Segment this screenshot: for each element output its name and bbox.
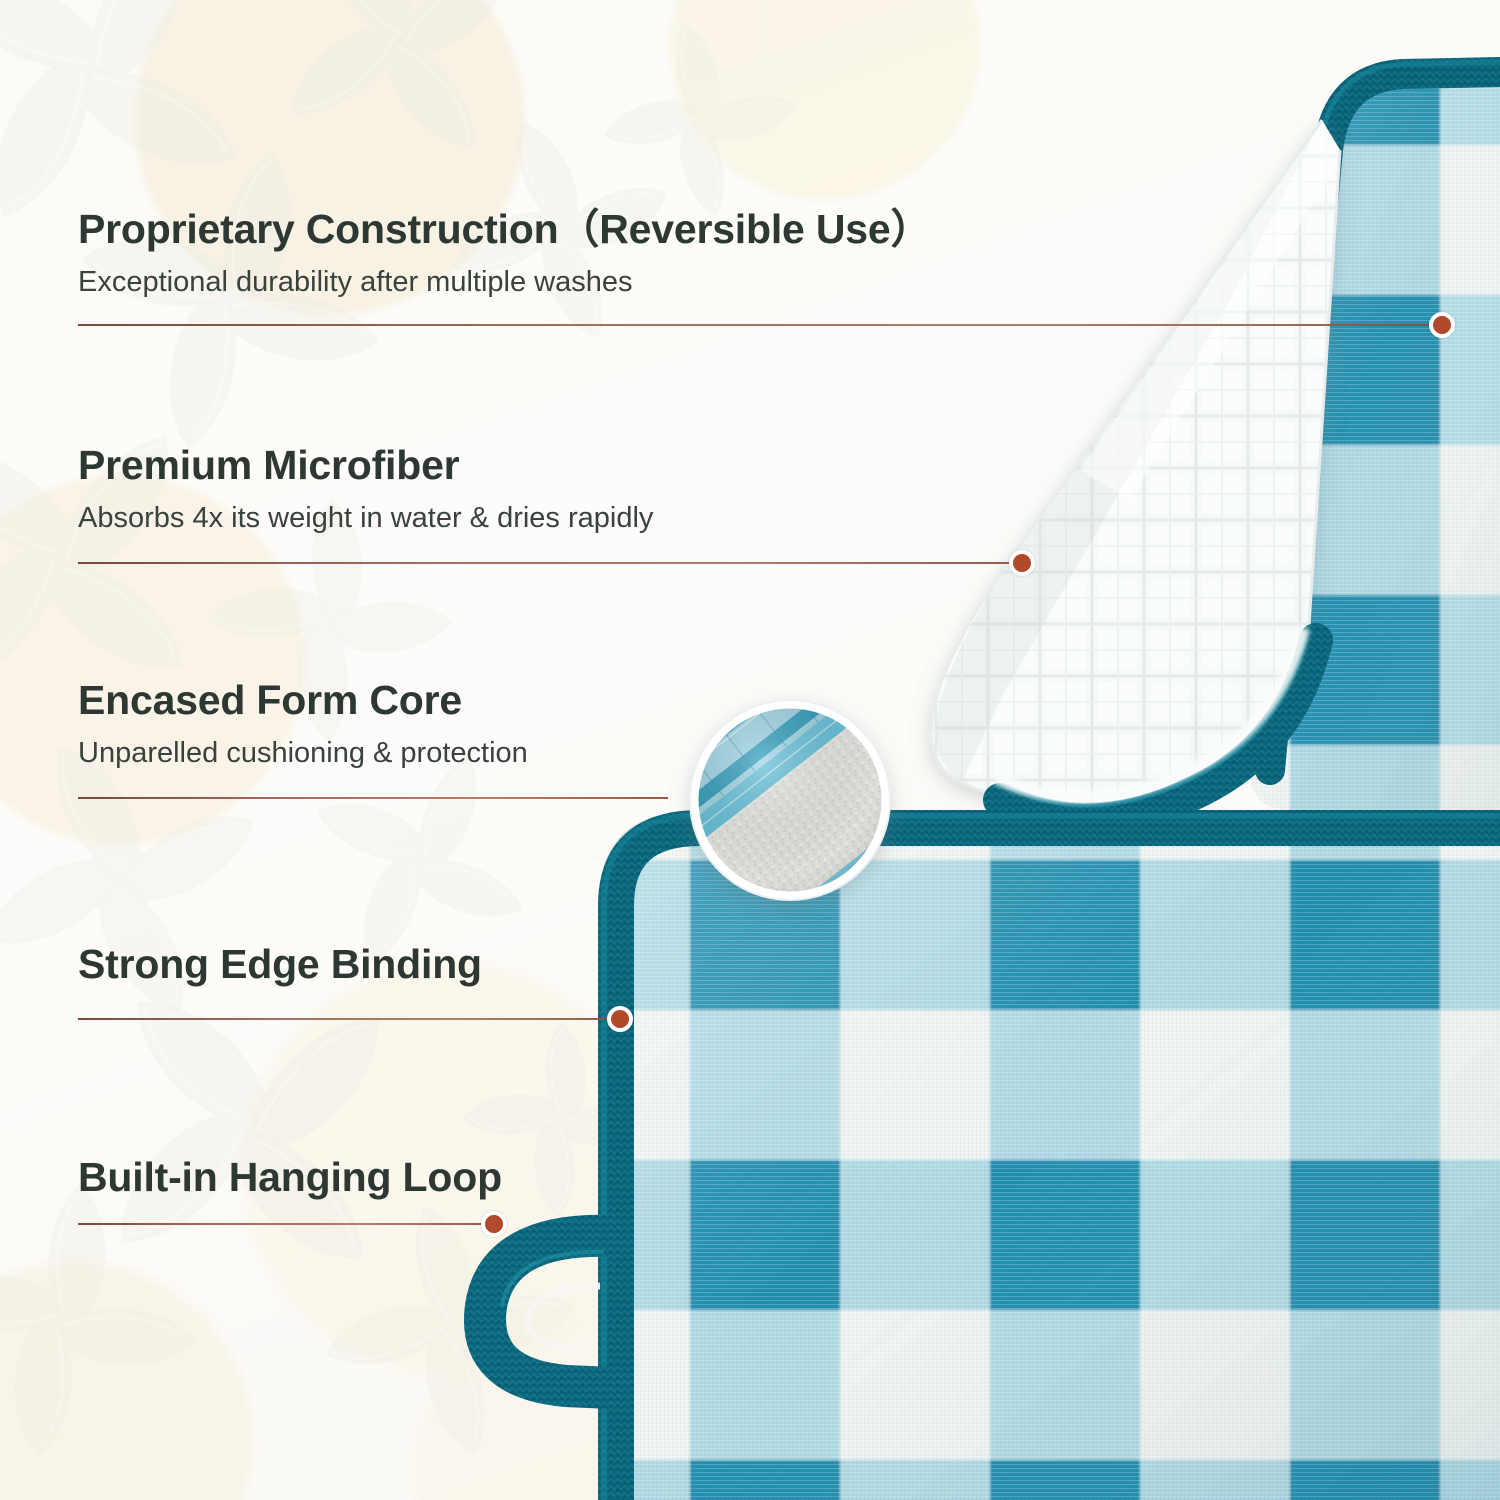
feature-subtitle: Exceptional durability after multiple wa… — [78, 266, 931, 299]
callout-text-group: Proprietary Construction（Reversible Use）… — [0, 0, 1500, 1500]
feature-subtitle: Unparelled cushioning & protection — [78, 737, 528, 770]
feature-built-in-hanging-loop: Built-in Hanging Loop — [78, 1155, 502, 1200]
feature-encased-form-core: Encased Form Core Unparelled cushioning … — [78, 678, 528, 770]
feature-strong-edge-binding: Strong Edge Binding — [78, 942, 482, 987]
feature-title: Encased Form Core — [78, 678, 528, 723]
feature-proprietary-construction: Proprietary Construction（Reversible Use）… — [78, 207, 931, 299]
feature-title: Proprietary Construction（Reversible Use） — [78, 207, 931, 252]
infographic-canvas: Proprietary Construction（Reversible Use）… — [0, 0, 1500, 1500]
feature-title: Premium Microfiber — [78, 443, 653, 488]
feature-premium-microfiber: Premium Microfiber Absorbs 4x its weight… — [78, 443, 653, 535]
feature-title: Strong Edge Binding — [78, 942, 482, 987]
feature-title: Built-in Hanging Loop — [78, 1155, 502, 1200]
feature-subtitle: Absorbs 4x its weight in water & dries r… — [78, 502, 653, 535]
